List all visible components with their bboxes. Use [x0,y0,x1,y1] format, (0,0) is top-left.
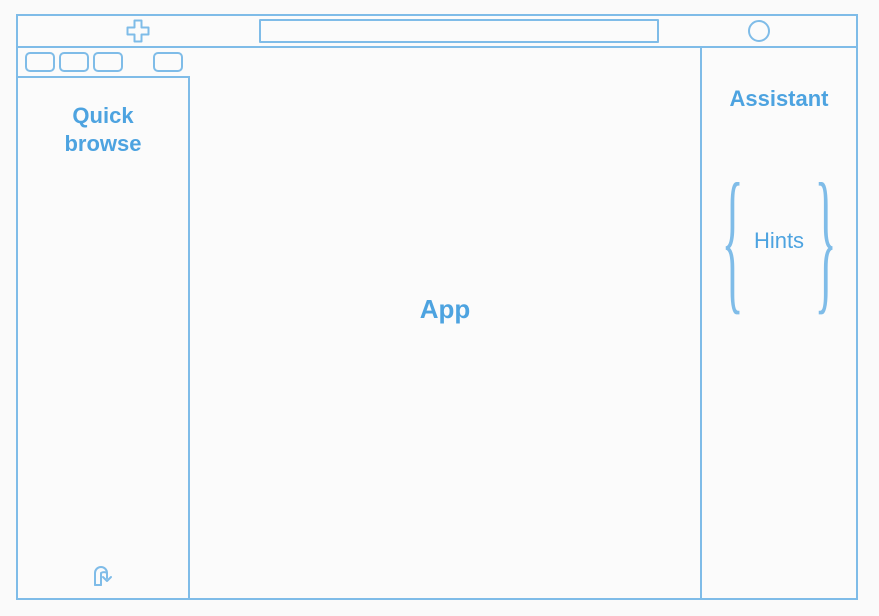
app-label: App [420,294,471,325]
circle-avatar-icon [748,20,770,42]
assistant-panel: Assistant { Hints } [702,48,856,598]
hints-open-brace-icon: { [721,161,743,321]
window-frame: Quick browse App Assistant { Hints } [16,14,858,600]
app-content-area: App [190,48,702,598]
hints-label: Hints [742,228,816,254]
tab-chip-3[interactable] [93,52,123,72]
account-button[interactable] [661,16,856,46]
sidebar: Quick browse [18,78,190,598]
top-toolbar [18,16,856,48]
tab-chip-1[interactable] [25,52,55,72]
tab-strip-trailing-button[interactable] [153,52,183,72]
new-tab-button[interactable] [18,16,257,46]
sidebar-title: Quick browse [18,102,188,158]
address-input[interactable] [259,19,659,43]
hints-block: { Hints } [702,166,856,316]
u-turn-arrow-icon[interactable] [88,560,118,590]
hints-close-brace-icon: } [815,161,837,321]
assistant-title: Assistant [702,86,856,112]
sidebar-footer [18,560,188,590]
tab-strip [18,48,190,78]
address-bar-container [257,16,661,46]
plus-icon [125,18,151,44]
tab-chip-2[interactable] [59,52,89,72]
